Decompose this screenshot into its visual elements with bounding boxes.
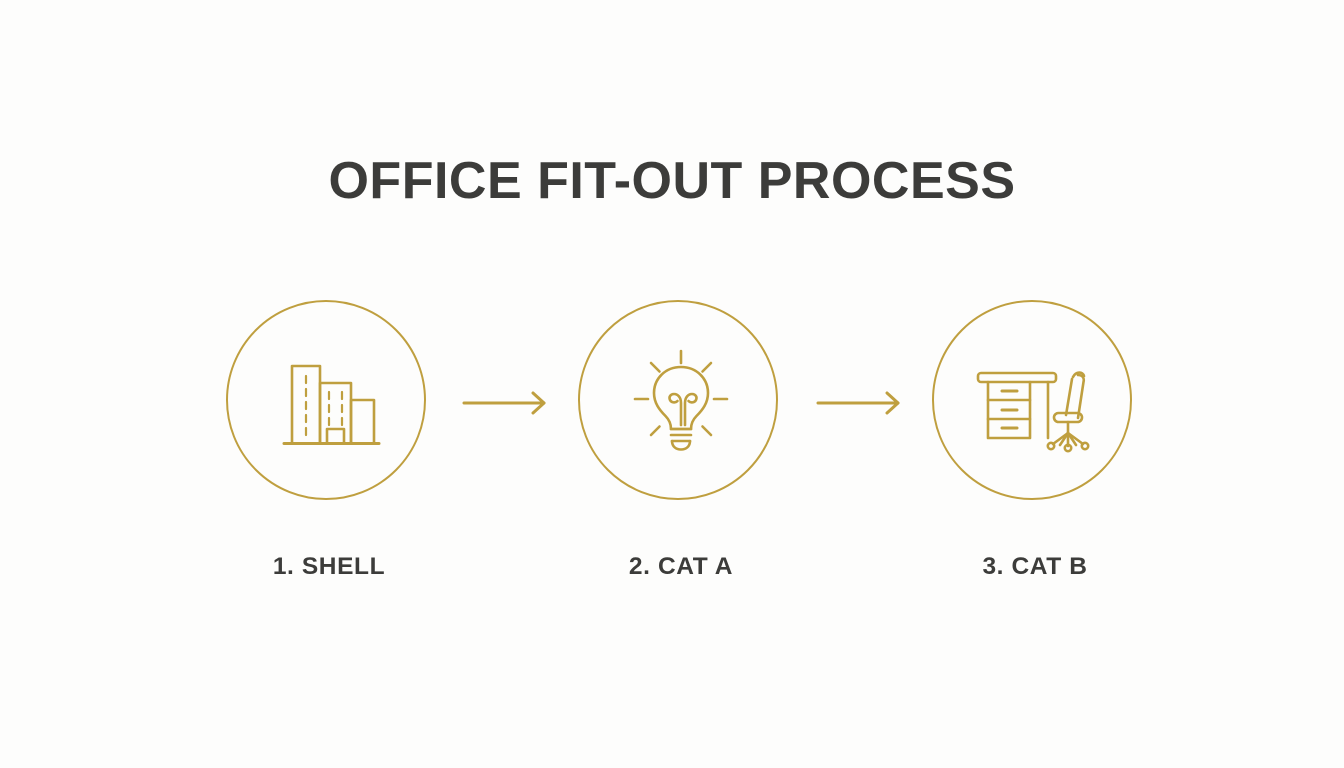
lightbulb-icon — [578, 300, 784, 502]
step-label-shell: 1. SHELL — [186, 553, 472, 581]
arrow-right-icon — [816, 390, 904, 416]
office-building-icon — [226, 300, 432, 502]
process-flow: 1. SHELL — [0, 300, 1344, 600]
step-label-cat-a: 2. CAT A — [538, 553, 824, 581]
arrow-right-icon — [462, 390, 550, 416]
step-label-cat-b: 3. CAT B — [892, 553, 1178, 581]
page-title: OFFICE FIT-OUT PROCESS — [0, 155, 1344, 207]
process-step-cat-b[interactable]: 3. CAT B — [932, 300, 1138, 600]
process-step-cat-a[interactable]: 2. CAT A — [578, 300, 784, 600]
slide-canvas: OFFICE FIT-OUT PROCESS — [0, 0, 1344, 768]
desk-chair-icon — [932, 300, 1138, 502]
process-step-shell[interactable]: 1. SHELL — [226, 300, 432, 600]
